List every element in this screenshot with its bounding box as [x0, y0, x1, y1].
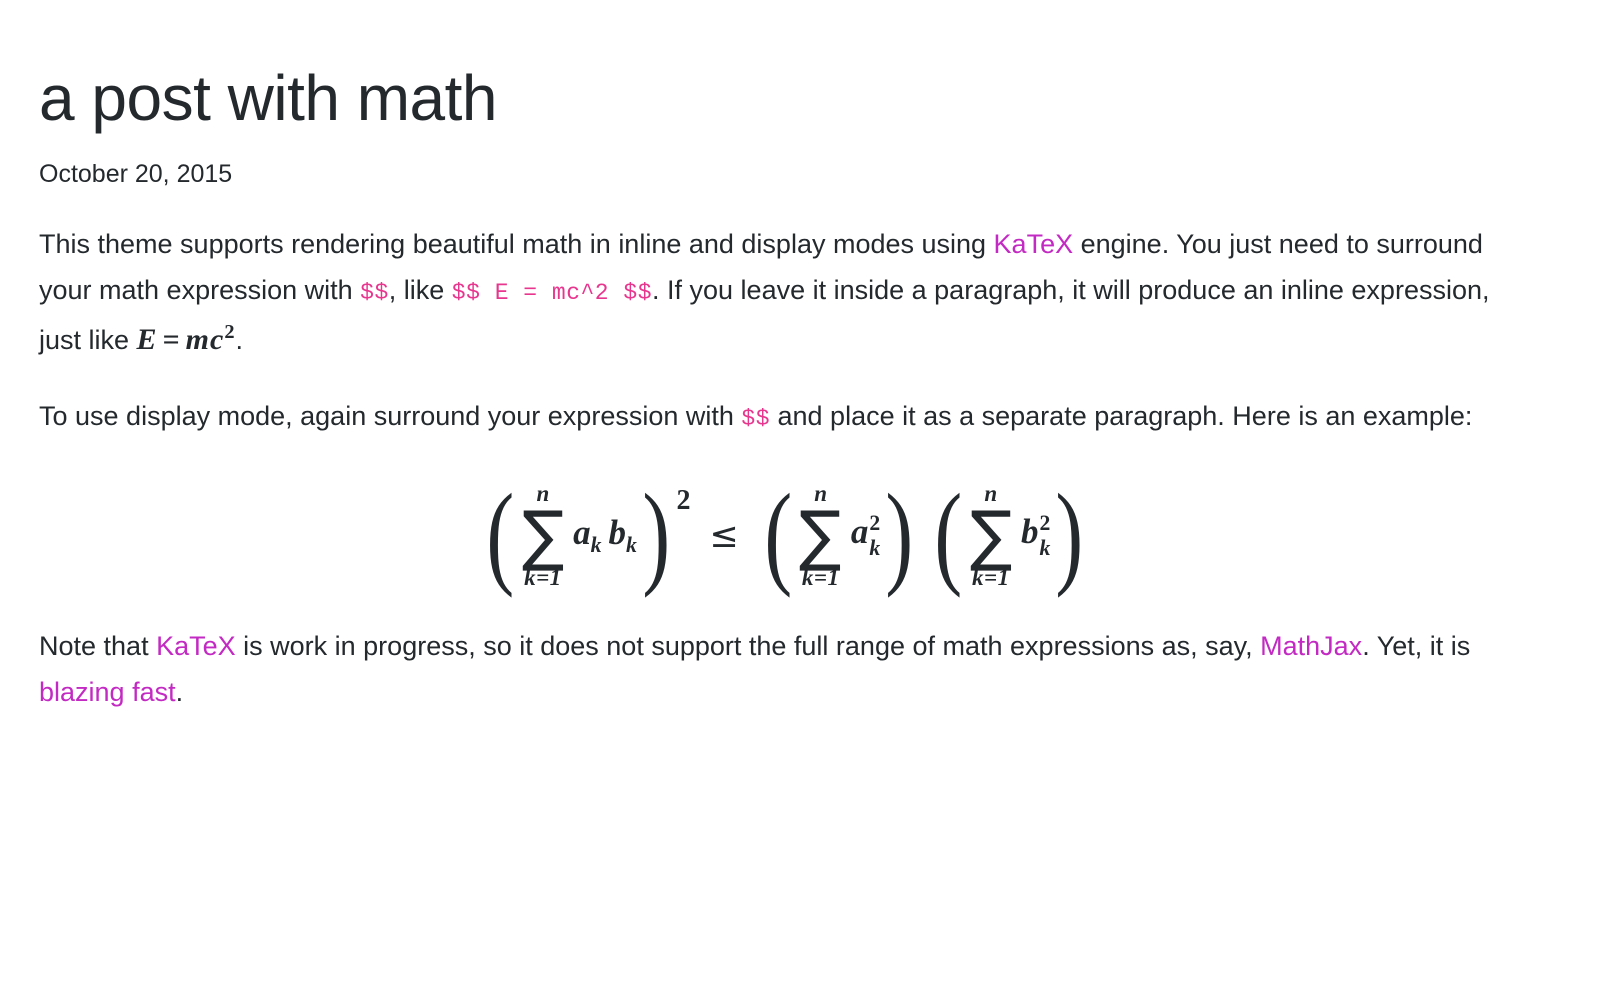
term-b2-base: b: [1021, 512, 1039, 551]
paren-open-2: (: [764, 490, 792, 580]
link-katex-intro[interactable]: KaTeX: [994, 229, 1074, 259]
term-a2-superscript: 2: [869, 513, 880, 535]
term-b-squared-k: b2k: [1021, 512, 1050, 558]
code-dollar-delimiters-2: $$: [741, 406, 770, 432]
equation-row: ( n ∑ k=1 ak bk ) 2 ≤ ( n ∑: [481, 482, 1089, 589]
term-a2-scripts: 2k: [869, 513, 880, 559]
sigma-icon-1: ∑: [522, 509, 564, 563]
intro-text-5: .: [236, 325, 244, 355]
sigma-icon-2: ∑: [800, 509, 842, 563]
equation-group-right: ( n ∑ k=1 b2k ): [929, 482, 1089, 589]
relation-less-than-or-equal: ≤: [709, 516, 738, 556]
equation-group-middle: ( n ∑ k=1 a2k ): [759, 482, 919, 589]
paragraph-display-mode: To use display mode, again surround your…: [39, 365, 1531, 440]
summation-1: n ∑ k=1: [521, 482, 565, 589]
blog-post-page: a post with math October 20, 2015 This t…: [0, 0, 1600, 1000]
paragraph-intro: This theme supports rendering beautiful …: [39, 189, 1531, 366]
display-mode-text-1: To use display mode, again surround your…: [39, 401, 741, 431]
inline-math-rhs: mc: [186, 323, 225, 356]
term-b-subscript: k: [626, 533, 637, 557]
paragraph-note: Note that KaTeX is work in progress, so …: [39, 597, 1531, 716]
inline-math-exponent: 2: [224, 321, 235, 343]
note-text-4: .: [176, 677, 184, 707]
display-equation-cauchy-schwarz: ( n ∑ k=1 ak bk ) 2 ≤ ( n ∑: [39, 440, 1531, 597]
term-a-base: a: [573, 513, 591, 552]
summation-3: n ∑ k=1: [969, 482, 1013, 589]
post-date: October 20, 2015: [39, 136, 1531, 189]
post-content-container: a post with math October 20, 2015 This t…: [39, 0, 1531, 716]
group-exponent: 2: [676, 485, 690, 517]
equation-group-left: ( n ∑ k=1 ak bk ) 2: [481, 482, 689, 589]
inline-math-equals: =: [158, 323, 186, 356]
summation-2: n ∑ k=1: [798, 482, 842, 589]
paren-close-1: ): [642, 490, 670, 580]
sigma-icon-3: ∑: [970, 509, 1012, 563]
code-dollar-delimiters-1: $$: [360, 280, 389, 306]
term-a2-subscript: k: [869, 538, 880, 560]
term-a-k: ak: [573, 513, 601, 558]
term-b-base: b: [608, 513, 626, 552]
paren-open-3: (: [934, 490, 962, 580]
page-title: a post with math: [39, 0, 1531, 136]
paren-close-3: ): [1056, 490, 1084, 580]
paren-close-2: ): [886, 490, 914, 580]
intro-text-3: , like: [389, 275, 452, 305]
inline-math-emc2: E=mc2: [137, 323, 236, 356]
paren-open-1: (: [486, 490, 514, 580]
link-katex-note[interactable]: KaTeX: [156, 631, 236, 661]
note-text-2: is work in progress, so it does not supp…: [236, 631, 1261, 661]
term-a-squared-k: a2k: [851, 512, 880, 558]
term-b2-scripts: 2k: [1040, 513, 1051, 559]
term-a2-base: a: [851, 512, 869, 551]
note-text-1: Note that: [39, 631, 156, 661]
term-b2-superscript: 2: [1040, 513, 1051, 535]
intro-text-1: This theme supports rendering beautiful …: [39, 229, 994, 259]
note-text-3: . Yet, it is: [1362, 631, 1470, 661]
link-mathjax[interactable]: MathJax: [1260, 631, 1362, 661]
code-emc2-example: $$ E = mc^2 $$: [452, 280, 652, 306]
term-a-subscript: k: [591, 533, 602, 557]
inline-math-lhs: E: [137, 323, 158, 356]
link-blazing-fast[interactable]: blazing fast: [39, 677, 176, 707]
term-b2-subscript: k: [1040, 538, 1051, 560]
display-mode-text-2: and place it as a separate paragraph. He…: [770, 401, 1472, 431]
term-b-k: bk: [608, 513, 636, 558]
